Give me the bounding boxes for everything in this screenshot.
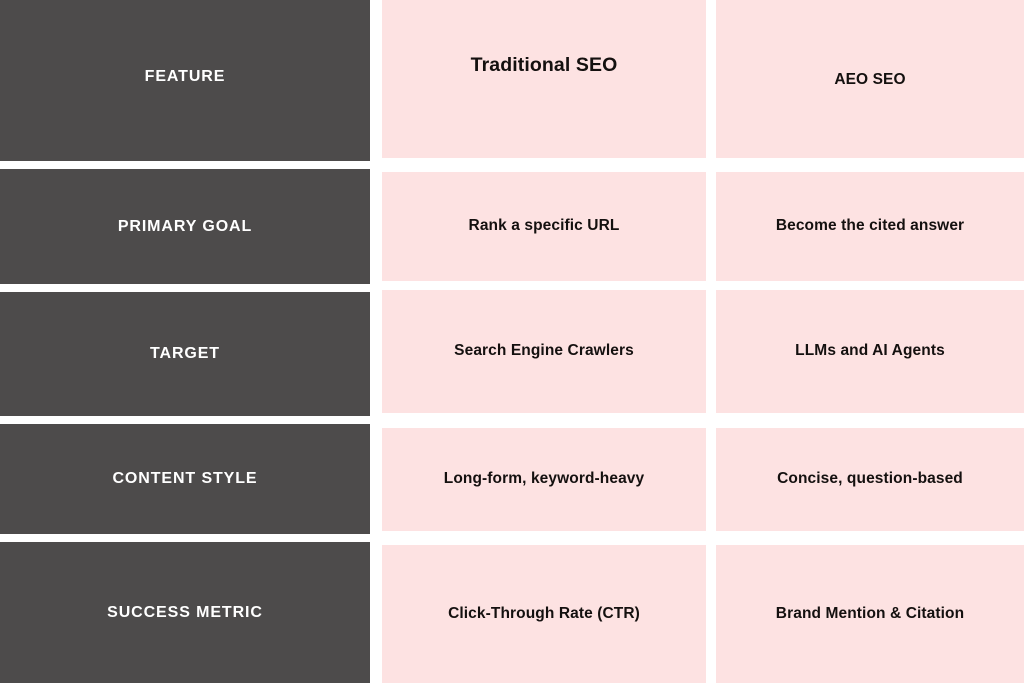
comparison-table: FEATURE Traditional SEO AEO SEO PRIMARY … bbox=[0, 0, 1024, 683]
table-cell-label: Rank a specific URL bbox=[469, 217, 620, 236]
table-cell-label: PRIMARY GOAL bbox=[118, 217, 252, 236]
table-row-value-cell: Become the cited answer bbox=[716, 172, 1024, 281]
table-row-value-cell: Rank a specific URL bbox=[382, 172, 706, 281]
table-row-value-cell: Brand Mention & Citation bbox=[716, 545, 1024, 683]
table-header-cell-traditional-seo: Traditional SEO bbox=[382, 0, 706, 158]
table-cell-label: SUCCESS METRIC bbox=[107, 603, 263, 622]
table-row-feature-cell: CONTENT STYLE bbox=[0, 424, 370, 534]
table-row-feature-cell: TARGET bbox=[0, 292, 370, 416]
table-cell-label: Concise, question-based bbox=[777, 470, 963, 489]
table-row-value-cell: LLMs and AI Agents bbox=[716, 290, 1024, 413]
table-header-label-traditional-seo: Traditional SEO bbox=[471, 54, 618, 77]
table-cell-label: Become the cited answer bbox=[776, 217, 964, 236]
table-header-label-feature: FEATURE bbox=[145, 67, 226, 86]
table-cell-label: Search Engine Crawlers bbox=[454, 342, 634, 361]
table-cell-label: Click-Through Rate (CTR) bbox=[448, 605, 640, 624]
table-cell-label: LLMs and AI Agents bbox=[795, 342, 945, 361]
table-cell-label: TARGET bbox=[150, 344, 220, 363]
table-row-value-cell: Click-Through Rate (CTR) bbox=[382, 545, 706, 683]
table-row-feature-cell: PRIMARY GOAL bbox=[0, 169, 370, 284]
table-row-value-cell: Search Engine Crawlers bbox=[382, 290, 706, 413]
table-row-value-cell: Long-form, keyword-heavy bbox=[382, 428, 706, 531]
table-header-cell-feature: FEATURE bbox=[0, 0, 370, 161]
table-cell-label: Long-form, keyword-heavy bbox=[444, 470, 645, 489]
table-row-value-cell: Concise, question-based bbox=[716, 428, 1024, 531]
table-cell-label: CONTENT STYLE bbox=[112, 469, 257, 488]
table-row-feature-cell: SUCCESS METRIC bbox=[0, 542, 370, 683]
table-cell-label: Brand Mention & Citation bbox=[776, 605, 964, 624]
table-header-cell-aeo-seo: AEO SEO bbox=[716, 0, 1024, 158]
table-header-label-aeo-seo: AEO SEO bbox=[834, 71, 905, 90]
